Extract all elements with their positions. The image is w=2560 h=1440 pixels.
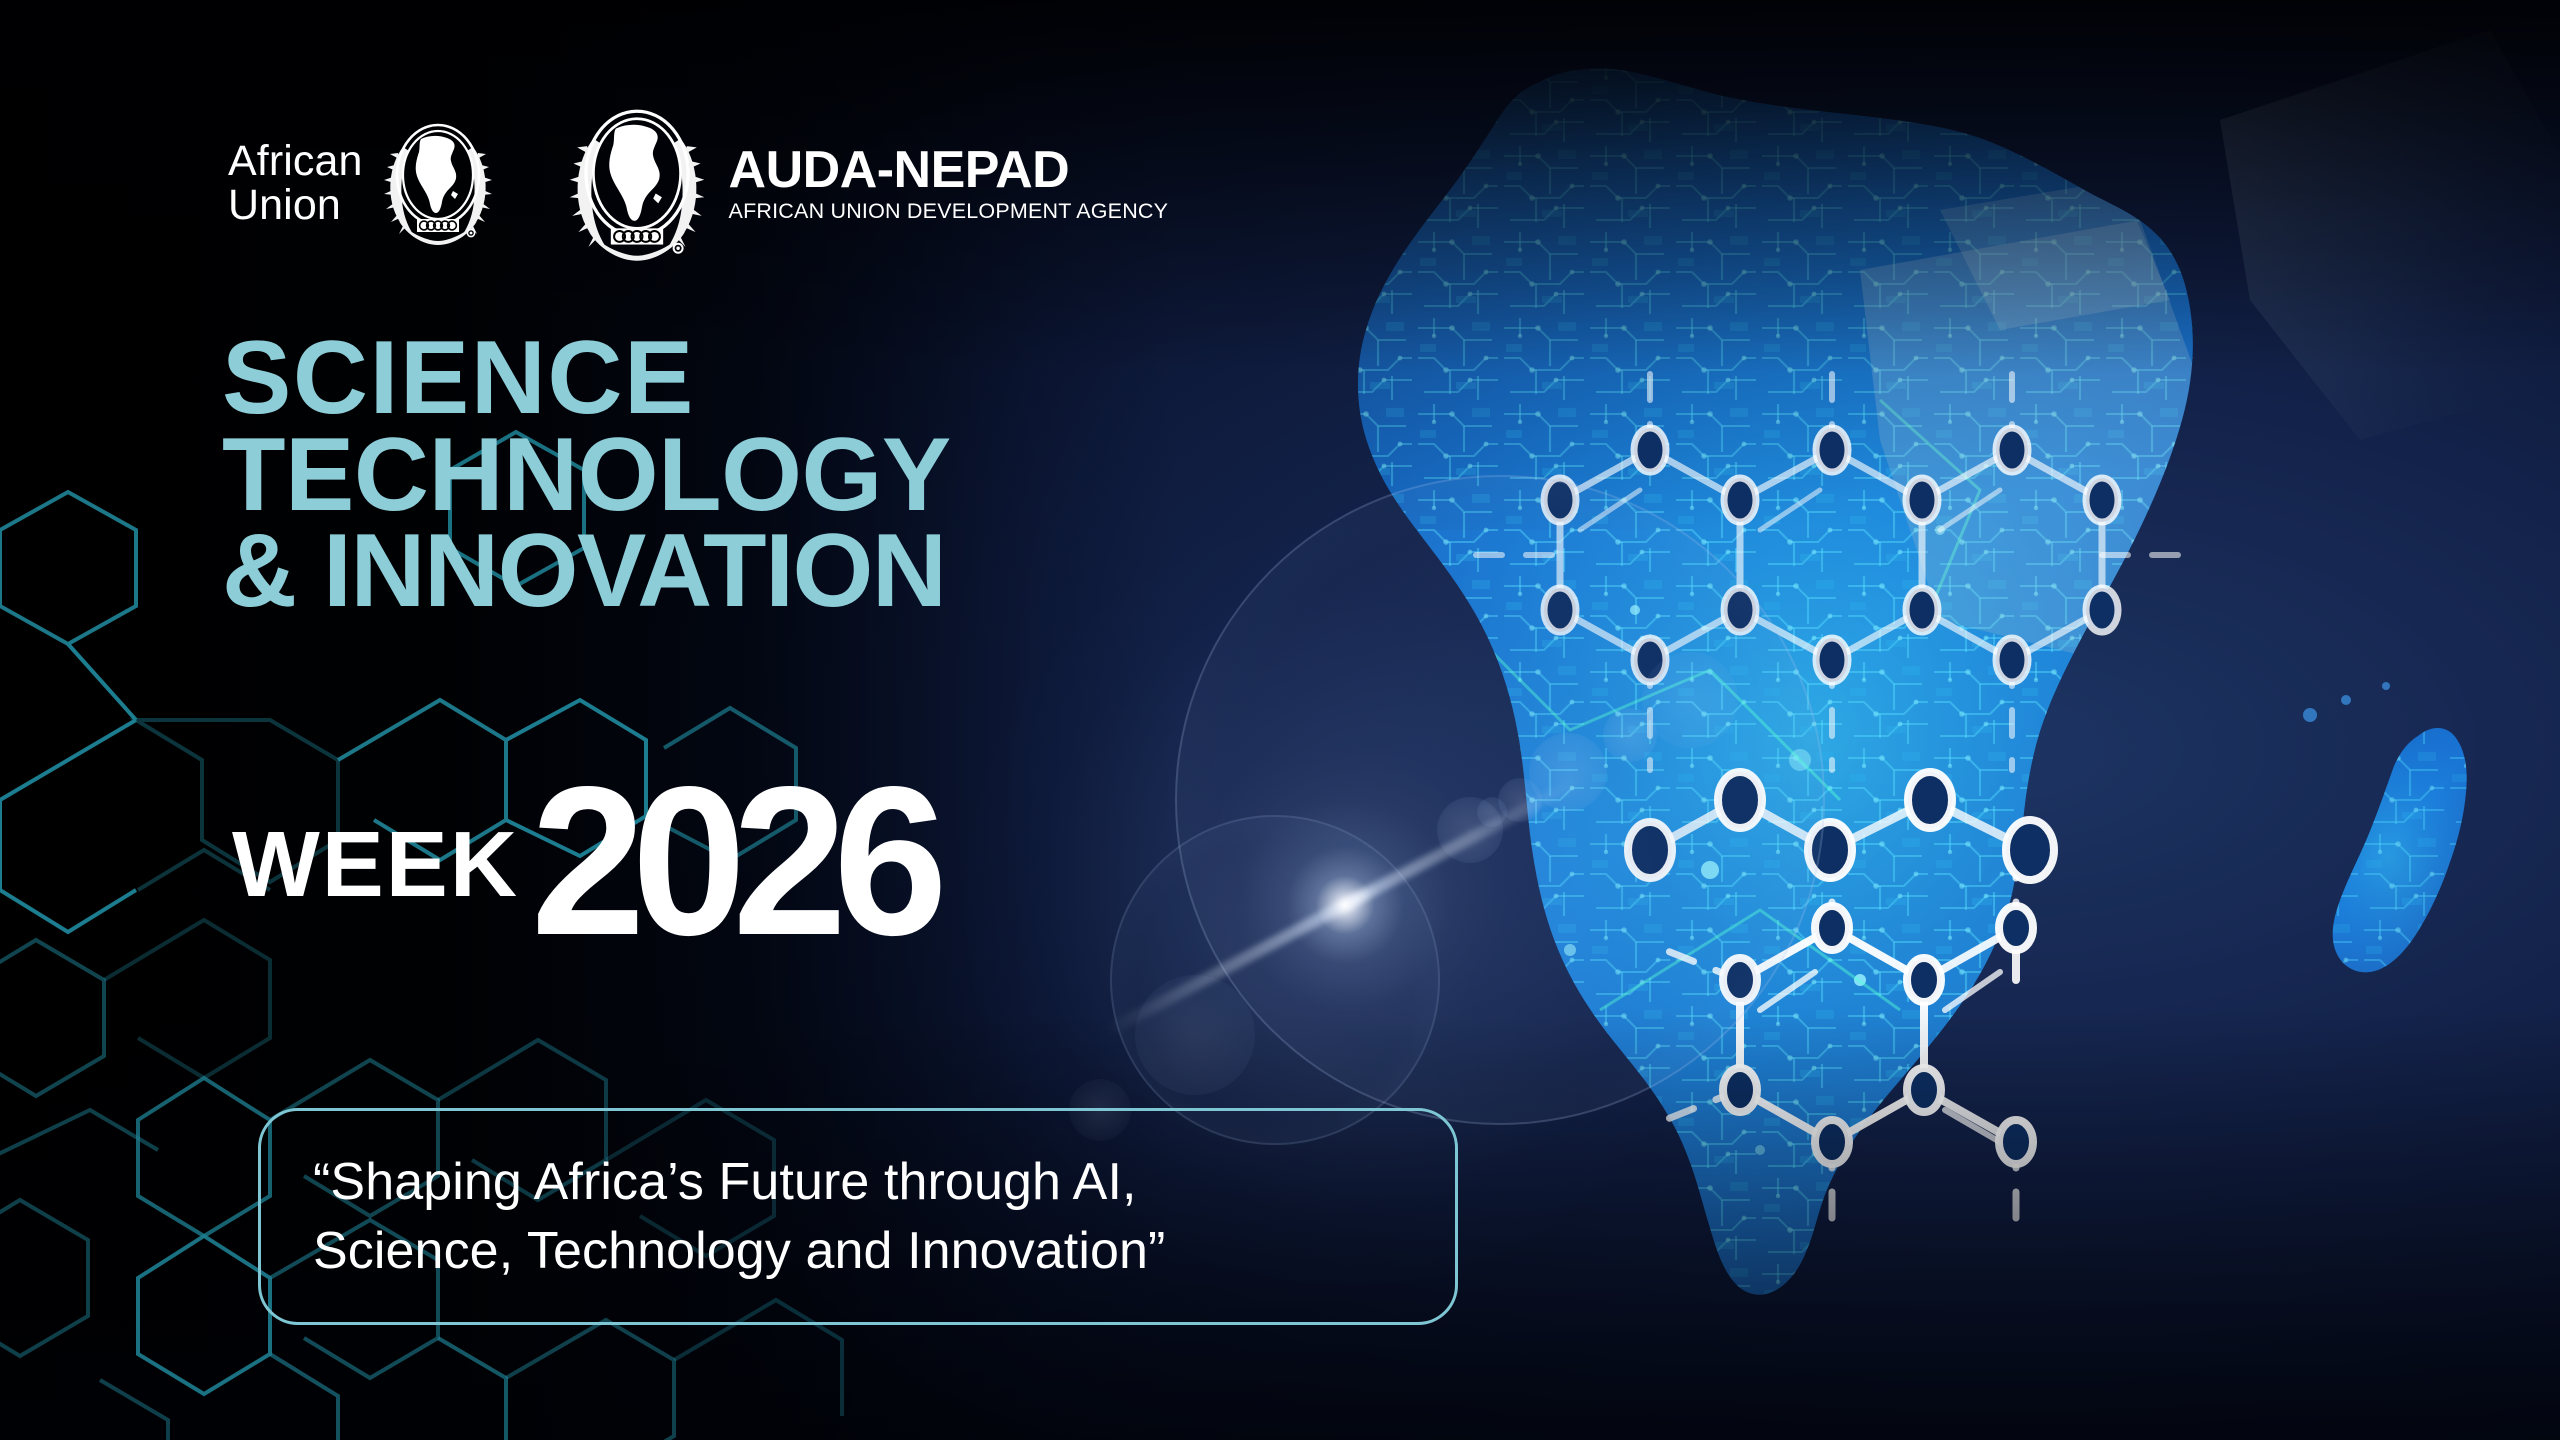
african-union-wordmark: African Union (228, 140, 363, 228)
auda-nepad-wordmark: AUDA-NEPAD AFRICAN UNION DEVELOPMENT AGE… (729, 144, 1169, 223)
tagline-box: “Shaping Africa’s Future through AI, Sci… (258, 1108, 1458, 1325)
tagline-text: “Shaping Africa’s Future through AI, Sci… (313, 1148, 1165, 1285)
auda-nepad-logo: AUDA-NEPAD AFRICAN UNION DEVELOPMENT AGE… (561, 96, 1169, 271)
logo-row: African Union (228, 96, 1168, 271)
african-union-line1: African (228, 140, 363, 184)
auda-nepad-emblem (561, 96, 713, 271)
event-headline: SCIENCE TECHNOLOGY & INNOVATION (222, 330, 951, 620)
headline-line-2: TECHNOLOGY (222, 427, 951, 524)
auda-nepad-subtitle: AFRICAN UNION DEVELOPMENT AGENCY (729, 201, 1169, 223)
headline-line-3: & INNOVATION (222, 523, 951, 620)
poster-canvas: African Union (0, 0, 2560, 1440)
african-union-emblem (377, 113, 499, 254)
tagline-line-2: Science, Technology and Innovation” (313, 1217, 1165, 1286)
african-union-logo: African Union (228, 113, 499, 254)
headline-line-1: SCIENCE (222, 330, 951, 427)
auda-nepad-title: AUDA-NEPAD (729, 144, 1169, 196)
tagline-line-1: “Shaping Africa’s Future through AI, (313, 1148, 1165, 1217)
week-label: WEEK (232, 818, 519, 911)
event-year: 2026 (531, 778, 934, 943)
african-union-line2: Union (228, 184, 363, 228)
event-week-year: WEEK 2026 (232, 740, 947, 911)
